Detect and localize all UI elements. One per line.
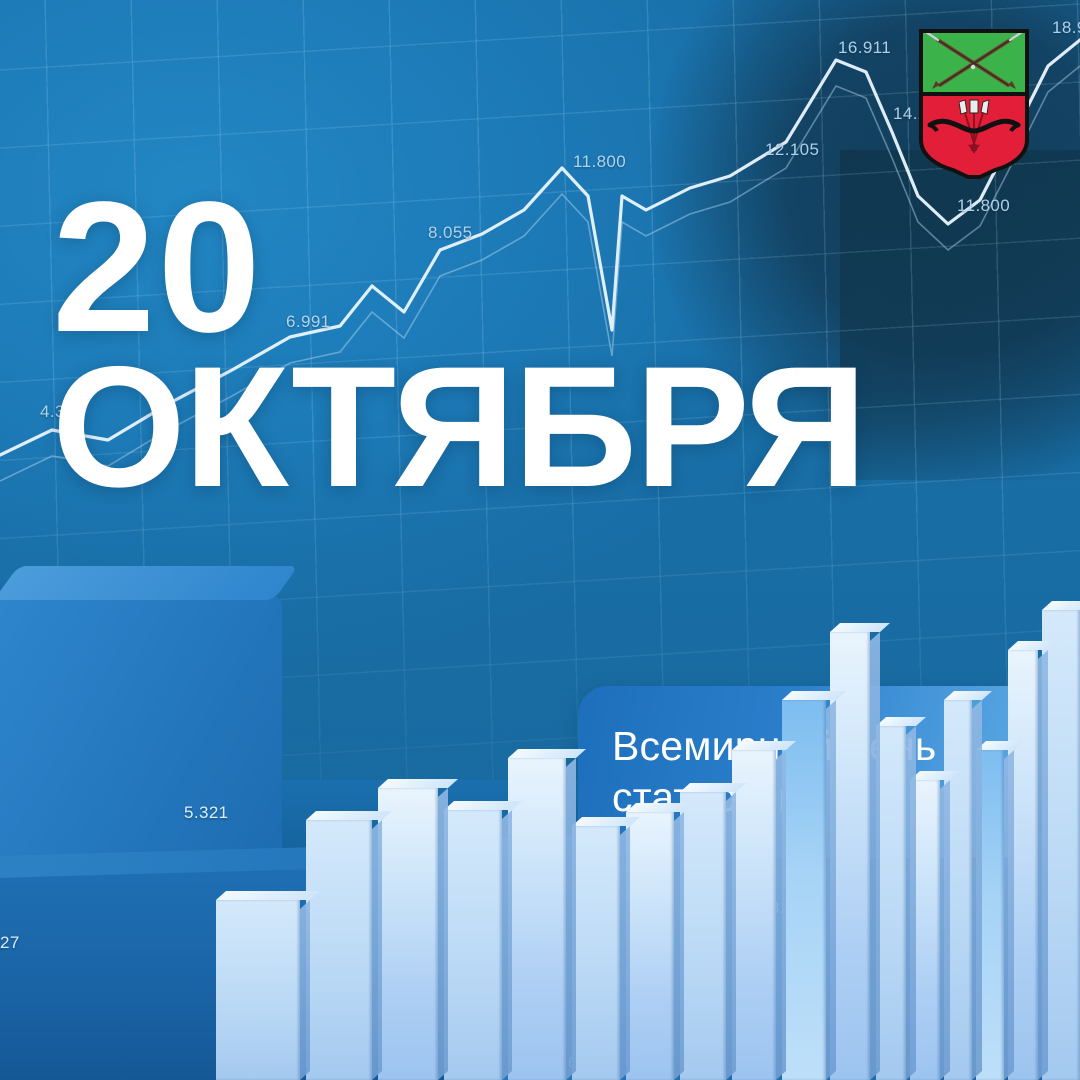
chart-data-label: 18.905 [1052,18,1080,38]
shield-divider [918,92,1030,96]
chart-bar [216,900,300,1080]
chart-bar [306,820,372,1080]
chart-data-label: 27 [0,933,20,953]
chart-data-label: 4.34 [40,402,75,422]
chart-data-label: 8.055 [428,223,473,243]
chart-data-label: 11.800 [957,196,1010,216]
chart-bar [680,792,726,1080]
chart-bar [572,826,620,1080]
foreground-block-center [0,596,282,888]
chart-data-label: 11.800 [573,152,626,172]
chart-data-label: 6.991 [286,312,331,332]
chart-bar [626,812,674,1080]
coat-of-arms-icon [918,28,1030,180]
chart-data-label: 16.911 [838,38,891,58]
chart-bar [444,810,502,1080]
chart-bar [508,758,566,1080]
chart-bar [378,788,438,1080]
chart-bar [732,750,776,1080]
chart-data-label: 5.321 [184,803,229,823]
poster-canvas: 4.346.9918.05511.80012.10516.91114.2311.… [0,0,1080,1080]
chart-bar [876,726,906,1080]
chart-data-label: 12.105 [765,140,819,160]
chart-bar [782,700,826,1080]
